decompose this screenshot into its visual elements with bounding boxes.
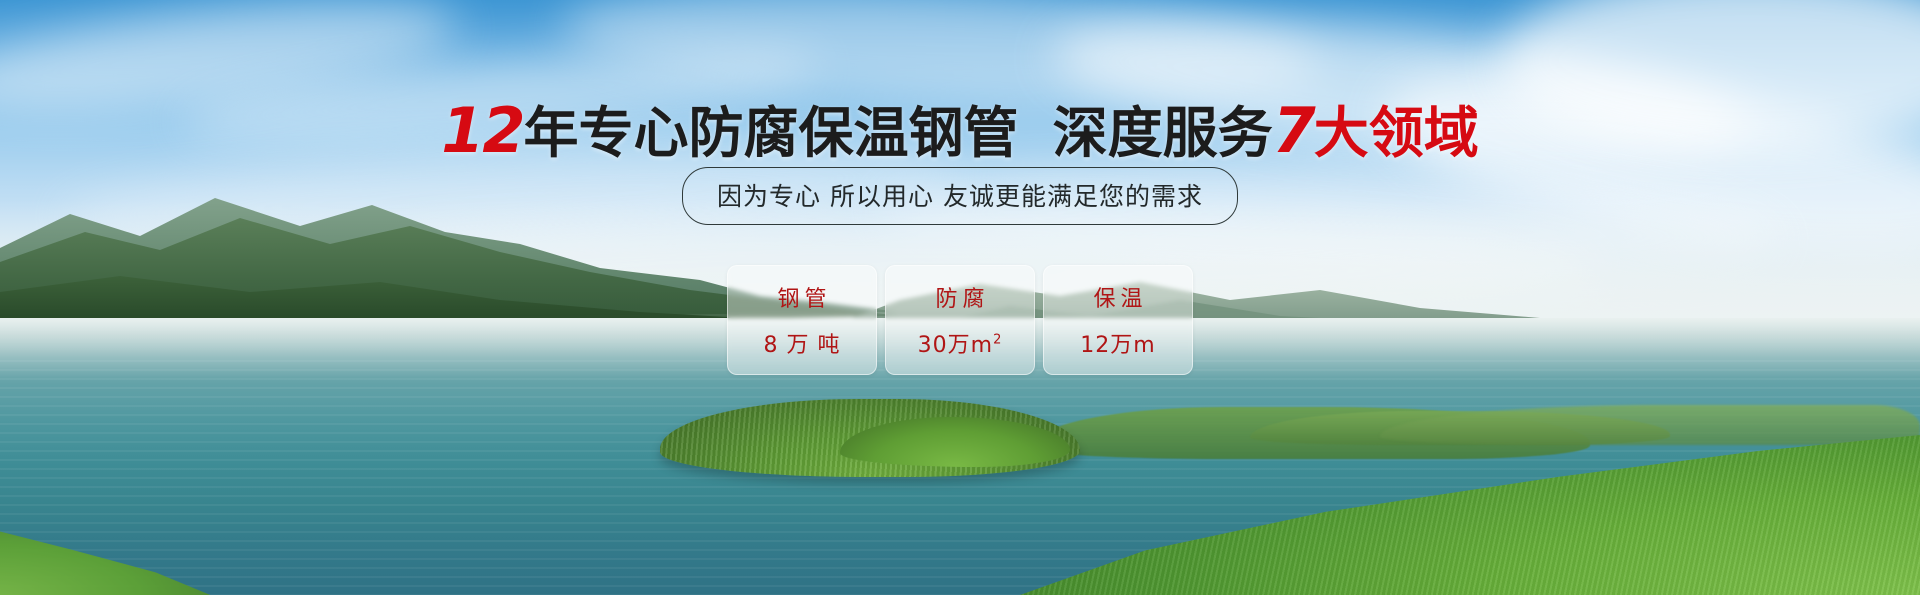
headline-segment-two: 深度服务 (1053, 101, 1273, 165)
headline-years-number: 12 (441, 94, 523, 167)
stat-card-value: 30万m2 (918, 327, 1003, 359)
banner-subtitle-wrap: 因为专心 所以用心 友诚更能满足您的需求 (0, 167, 1920, 225)
stat-card-value: 8 万 吨 (764, 327, 841, 359)
headline-segment-one: 年专心防腐保温钢管 (524, 101, 1019, 165)
stat-card-label: 保温 (1088, 281, 1147, 313)
headline-segment-three: 大领域 (1314, 101, 1479, 165)
stat-card-value-text: 30万m (918, 333, 993, 358)
banner-subtitle: 因为专心 所以用心 友诚更能满足您的需求 (682, 167, 1238, 225)
stat-card-value: 12万m (1080, 327, 1155, 359)
stat-card-steel-pipe[interactable]: 钢管 8 万 吨 (727, 265, 877, 375)
stat-card-value-text: 8 万 吨 (764, 333, 841, 358)
stat-card-anticorrosion[interactable]: 防腐 30万m2 (885, 265, 1035, 375)
stat-card-value-sup: 2 (993, 333, 1002, 348)
stat-card-insulation[interactable]: 保温 12万m (1043, 265, 1193, 375)
headline-fields-number: 7 (1273, 94, 1314, 167)
hero-banner: 12年专心防腐保温钢管深度服务7大领域 因为专心 所以用心 友诚更能满足您的需求… (0, 0, 1920, 595)
stat-card-label: 防腐 (930, 281, 989, 313)
stat-card-label: 钢管 (772, 281, 831, 313)
banner-headline: 12年专心防腐保温钢管深度服务7大领域 (0, 88, 1920, 168)
stat-card-value-text: 12万m (1080, 333, 1155, 358)
stat-card-list: 钢管 8 万 吨 防腐 30万m2 保温 12万m (0, 265, 1920, 375)
